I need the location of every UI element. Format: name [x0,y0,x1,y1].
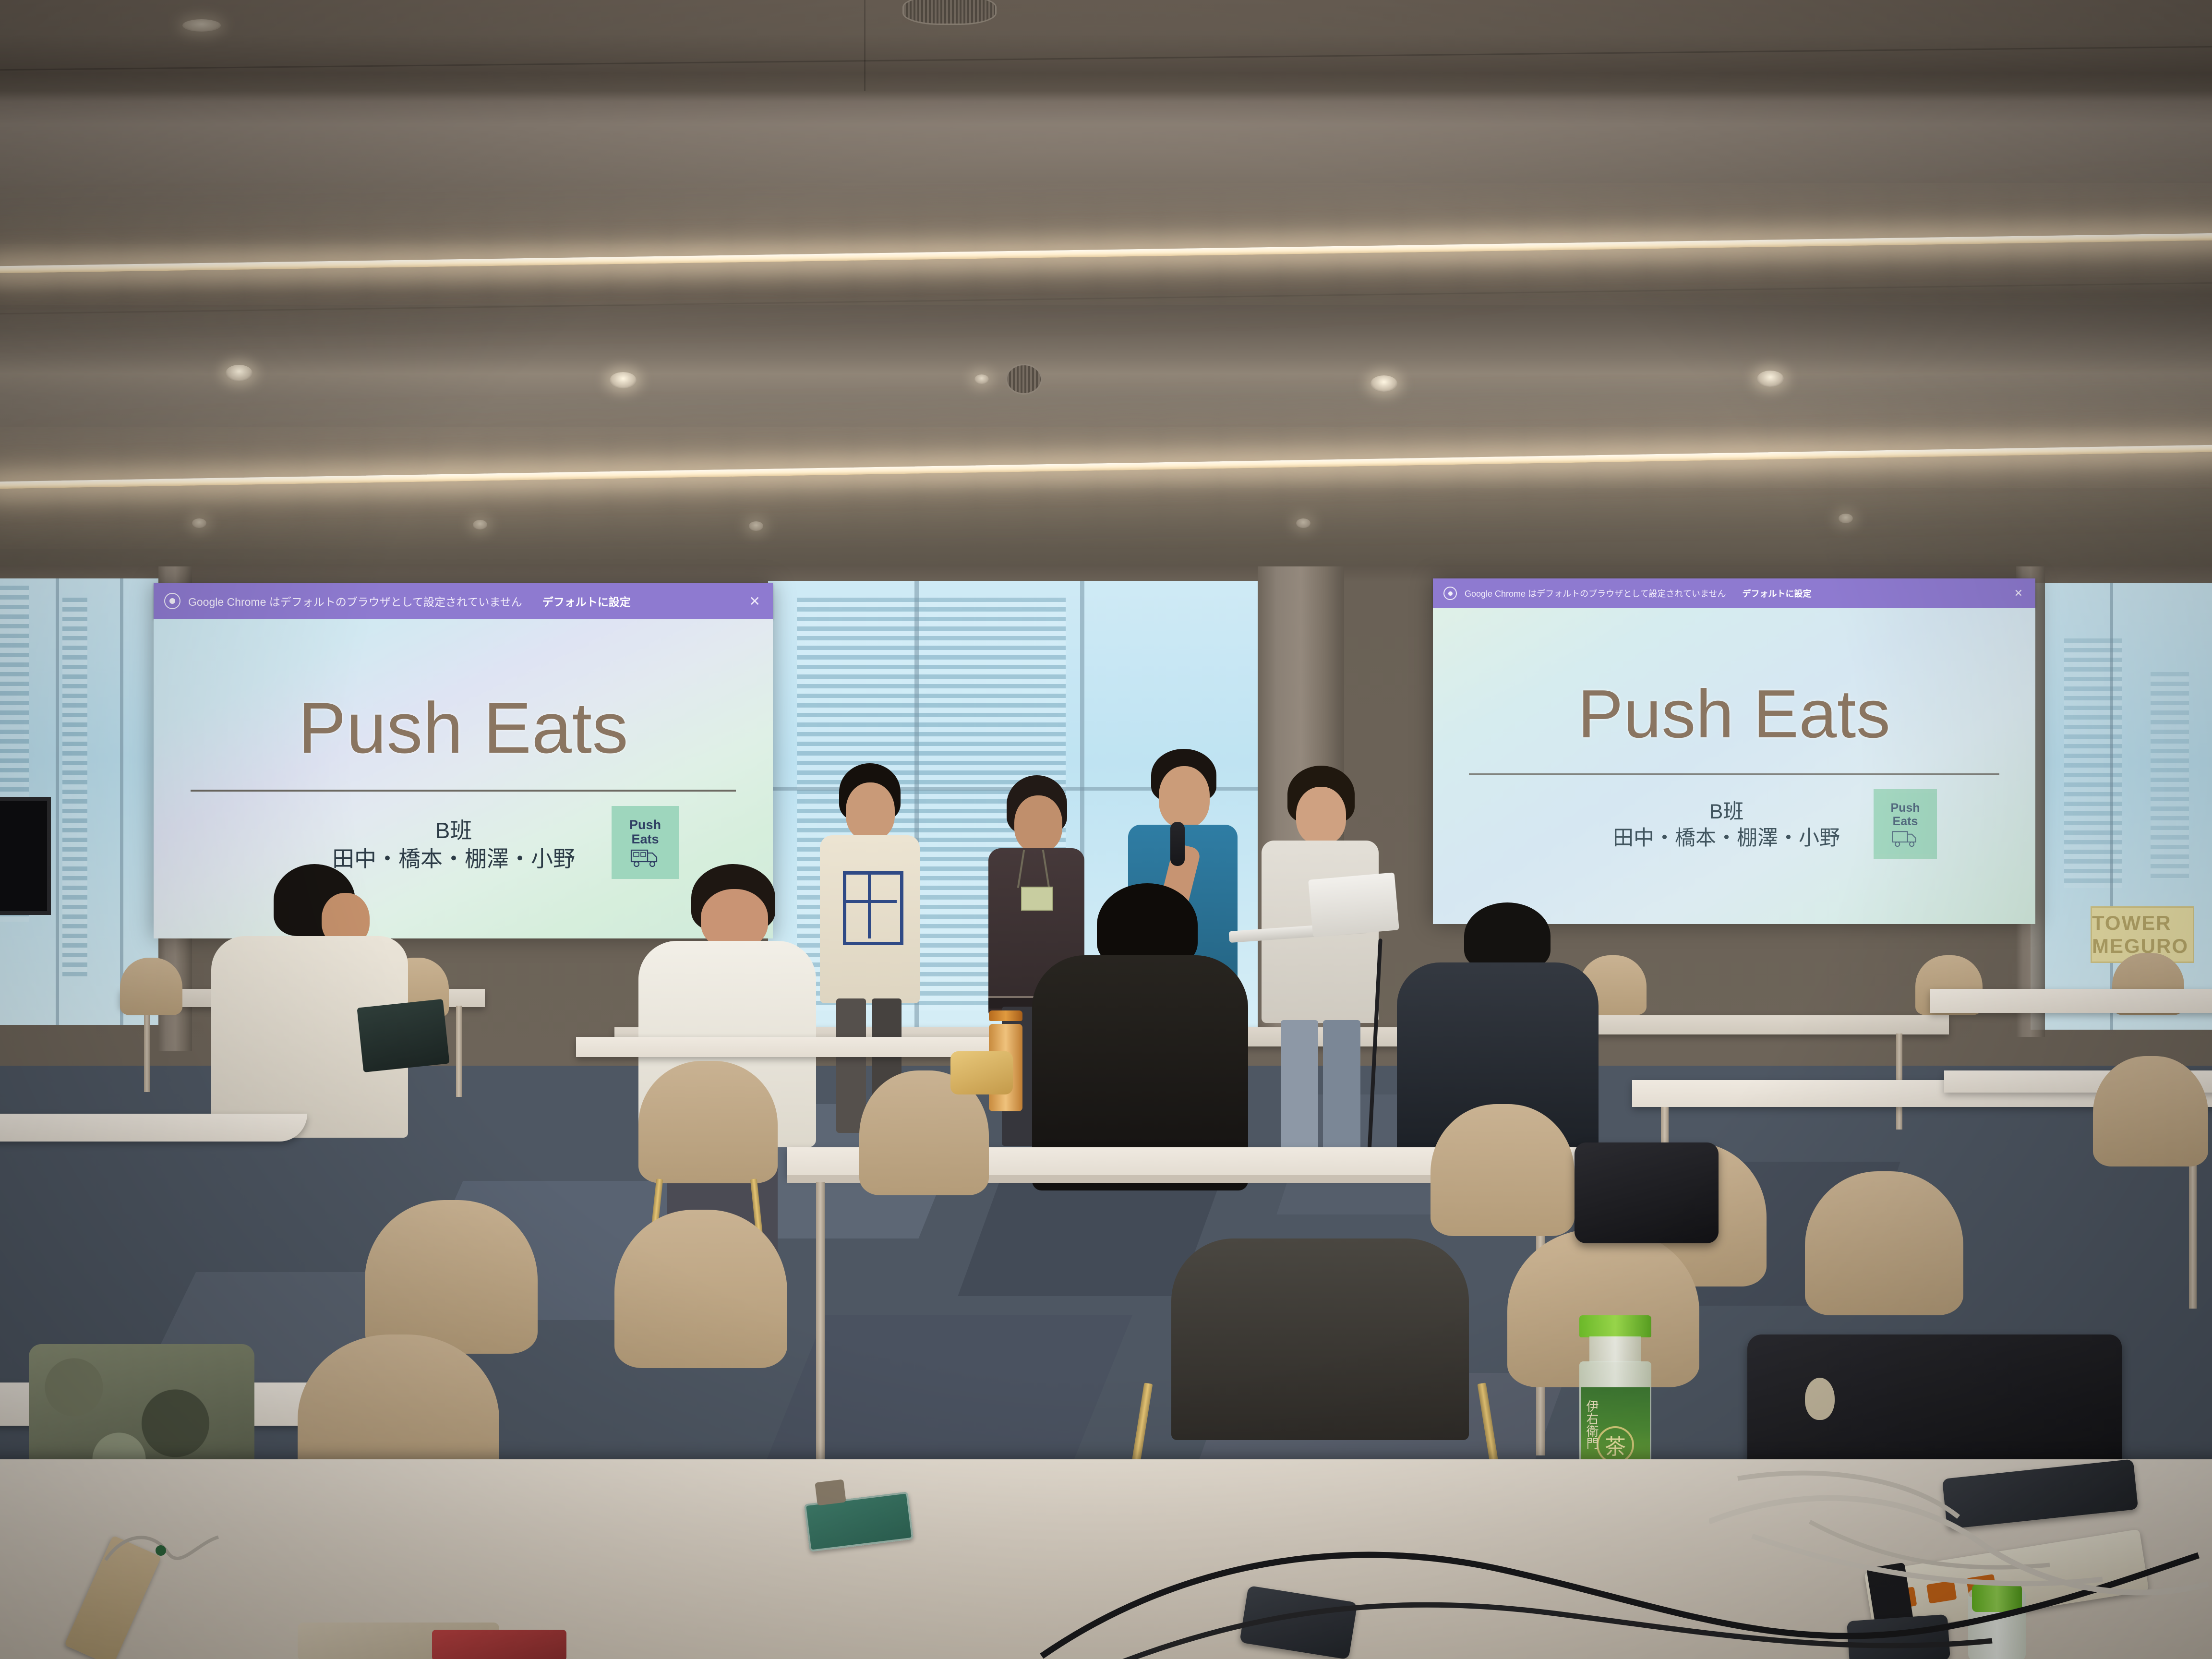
push-eats-logo-card: Push Eats [1874,789,1937,859]
slide-divider [191,790,735,792]
chair [638,1061,778,1183]
slide-title: Push Eats [298,692,628,764]
tea-brand: 伊右衛門 [1585,1400,1598,1450]
member-names: 田中・橋本・棚澤・小野 [1613,825,1840,852]
red-item [432,1630,566,1659]
ceiling-spotlight [1370,375,1397,392]
logo-line-2: Eats [1893,815,1918,828]
close-icon[interactable]: ✕ [749,593,760,609]
ceiling-vent [1006,364,1042,395]
table-leg [456,1006,462,1097]
notification-message: Google Chrome はデフォルトのブラウザとして設定されていません [1465,587,1726,600]
chair [120,958,182,1015]
microphone-icon [1170,822,1185,866]
wire-loop [101,1527,226,1594]
logo-line-1: Push [1890,801,1920,815]
tea-kanji: 茶 [1597,1426,1634,1464]
ceiling-spotlight [1757,371,1784,387]
notification-message: Google Chrome はデフォルトのブラウザとして設定されていません [188,593,522,609]
head [846,782,895,840]
hair [1097,883,1198,967]
chrome-icon [164,593,180,609]
set-default-button[interactable]: デフォルトに設定 [1742,587,1811,600]
tshirt-graphic [843,871,903,945]
head [1014,795,1062,852]
ceiling-spotlight [182,19,221,32]
tshirt-graphic [868,871,871,938]
presenter-with-laptop [1258,766,1382,1135]
meeting-room-scene: TOWER MEGURO Google Chrome はデフォルトのブラウザとし… [0,0,2212,1659]
desk-cables-right [1709,1464,2212,1659]
window-building [62,598,87,977]
legs [836,998,866,1133]
chair [1171,1238,1469,1440]
bottle-cap [989,1010,1022,1021]
ceiling-spotlight [226,365,252,381]
ceiling-vent [902,0,997,25]
food-truck-icon [1891,828,1919,847]
table-leg [144,1006,150,1092]
bag-charm [1805,1378,1835,1420]
chrome-notification-bar-right[interactable]: Google Chrome はデフォルトのブラウザとして設定されていません デフ… [1433,578,2035,608]
window-mullion [56,578,59,1025]
team-name: B班 [1613,799,1840,825]
slide-divider [1469,773,1999,775]
ceiling-spotlight [1839,514,1853,523]
bottle-neck [1589,1336,1641,1362]
slide-title: Push Eats [1578,680,1891,748]
laptop-screen [357,999,449,1072]
ceiling-spotlight [749,521,763,531]
ceiling-seam [864,0,866,91]
logo-line-1: Push [629,817,661,832]
bottle-cap [1579,1315,1651,1337]
laptop-screen [1308,872,1399,937]
ceiling-spotlight [1296,518,1310,528]
chrome-notification-bar-left[interactable]: Google Chrome はデフォルトのブラウザとして設定されていません デフ… [154,583,773,619]
table-right-back [1930,989,2212,1013]
legs [1323,1020,1360,1164]
attendee-white-shirt-laptop [202,864,413,1152]
badge-clip [815,1479,846,1506]
team-name: B班 [332,817,575,845]
ceiling-spotlight [192,518,206,528]
legs [1281,1020,1318,1164]
window-building [2064,638,2122,888]
chair [365,1200,538,1354]
projection-screen-right: Google Chrome はデフォルトのブラウザとして設定されていません デフ… [1433,578,2035,924]
ceiling-spotlight [473,520,487,529]
set-default-button[interactable]: デフォルトに設定 [542,593,631,609]
wall-monitor [0,797,51,915]
chair [614,1210,787,1368]
close-icon[interactable]: ✕ [2014,587,2023,600]
table-left-mid [576,1037,998,1057]
logo-line-2: Eats [631,832,659,846]
chair [2093,1056,2208,1166]
snack-food [950,1051,1013,1094]
ceiling-spotlight [610,372,637,388]
head [1159,766,1210,828]
head [701,889,768,949]
chrome-icon [1443,587,1457,600]
hair [1464,902,1551,970]
head [1296,787,1346,844]
table-leg [816,1182,825,1460]
ceiling-spotlight [974,374,989,384]
table-round-left [0,1114,307,1142]
window-mullion [120,578,123,1025]
slide-right: Push Eats B班 田中・橋本・棚澤・小野 Push Eats [1433,608,2035,924]
chair [1805,1171,1963,1315]
black-bag [1575,1142,1719,1243]
chair [1431,1104,1575,1236]
slide-subtitle: B班 田中・橋本・棚澤・小野 [1613,799,1840,852]
window-building [2151,672,2189,878]
